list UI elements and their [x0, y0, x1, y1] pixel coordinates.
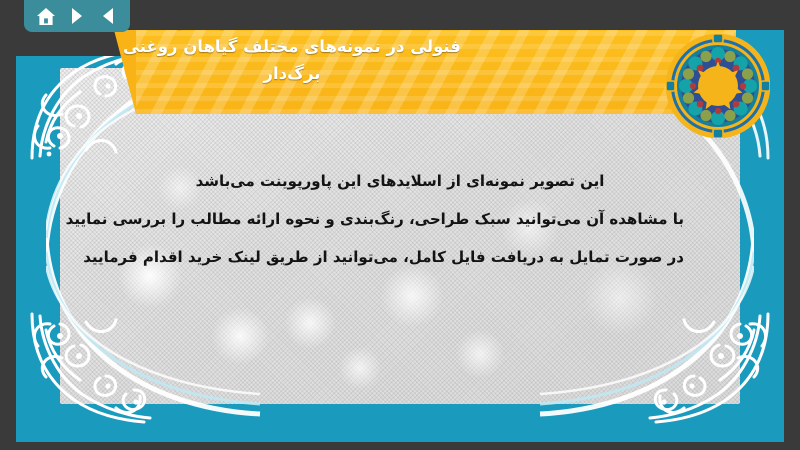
home-icon: [36, 7, 56, 26]
slide-title-line-2: فنولی در نمونه‌های مختلف گیاهان روغنی: [30, 33, 554, 60]
top-navigation-bar: [0, 0, 800, 30]
forward-button[interactable]: [64, 4, 90, 28]
circular-mandala-medallion: [666, 34, 770, 138]
navigation-button-group: [24, 0, 130, 32]
triangle-left-icon: [100, 7, 116, 25]
slide-content-panel: [60, 68, 740, 404]
triangle-right-icon: [69, 7, 85, 25]
back-button[interactable]: [95, 4, 121, 28]
slide-canvas: کامل استخراج و مقایسه میزان ترکیبات فنول…: [16, 30, 784, 442]
home-button[interactable]: [33, 4, 59, 28]
slide-title: کامل استخراج و مقایسه میزان ترکیبات فنول…: [16, 30, 616, 87]
slide-title-line-3: برگ‌دار: [30, 60, 554, 87]
